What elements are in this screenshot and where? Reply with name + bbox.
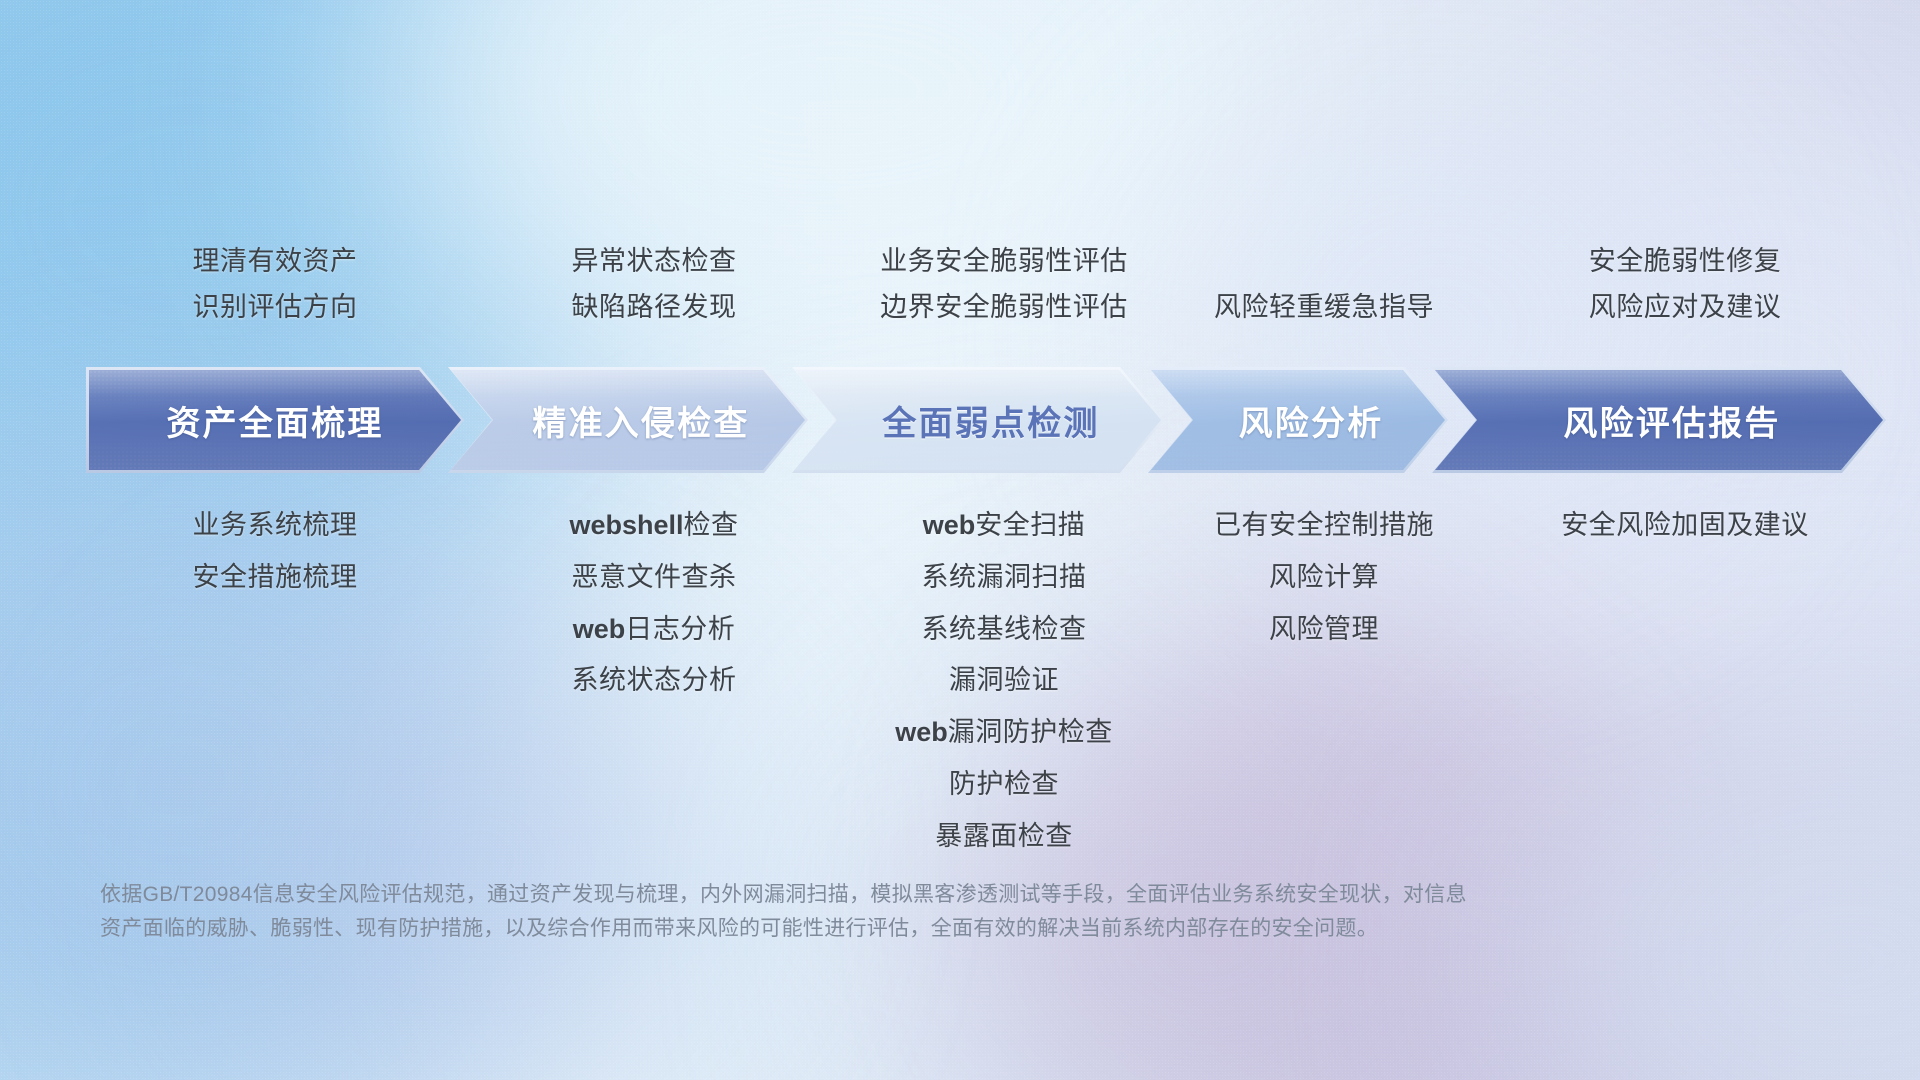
- process-step-title: 资产全面梳理: [166, 396, 383, 445]
- bottom-item-keyword: web: [923, 510, 976, 540]
- top-caption-item: 缺陷路径发现: [474, 284, 834, 330]
- bottom-item: 安全风险加固及建议: [1458, 500, 1912, 552]
- bottom-item: 风险计算: [1174, 552, 1474, 604]
- bottom-item: 暴露面检查: [818, 811, 1190, 863]
- top-caption-item: 理清有效资产: [86, 238, 464, 284]
- process-column-top-captions: 业务安全脆弱性评估边界安全脆弱性评估: [792, 238, 1190, 331]
- process-column-top-captions: 理清有效资产识别评估方向: [86, 238, 464, 331]
- bottom-item: web漏洞防护检查: [818, 707, 1190, 759]
- process-step-title: 风险分析: [1213, 396, 1384, 445]
- top-caption-item: 业务安全脆弱性评估: [818, 238, 1190, 284]
- process-step-risk-report[interactable]: 风险评估报告: [1432, 367, 1886, 473]
- process-step-intrusion-check[interactable]: 精准入侵检查: [448, 367, 808, 473]
- bottom-item-keyword: web: [895, 717, 948, 747]
- bottom-item: 安全措施梳理: [86, 552, 464, 604]
- process-column-bottom-items: webshell检查恶意文件查杀web日志分析系统状态分析: [448, 500, 834, 707]
- top-caption-item: 安全脆弱性修复: [1458, 238, 1912, 284]
- process-column-top-captions: 异常状态检查缺陷路径发现: [448, 238, 834, 331]
- bottom-item: 系统基线检查: [818, 604, 1190, 656]
- process-column-bottom-items: 业务系统梳理安全措施梳理: [86, 500, 464, 604]
- top-caption-item: 风险轻重缓急指导: [1174, 284, 1474, 330]
- bottom-item-keyword: webshell: [569, 510, 683, 540]
- process-column-bottom-items: web安全扫描系统漏洞扫描系统基线检查漏洞验证web漏洞防护检查防护检查暴露面检…: [792, 500, 1190, 863]
- process-step-weakness-detection[interactable]: 全面弱点检测: [792, 367, 1164, 473]
- process-step-title: 精准入侵检查: [506, 396, 749, 445]
- process-column-top-captions: 安全脆弱性修复风险应对及建议: [1432, 238, 1912, 331]
- process-step-title: 风险评估报告: [1537, 396, 1780, 445]
- bottom-item: 已有安全控制措施: [1174, 500, 1474, 552]
- top-caption-item: 识别评估方向: [86, 284, 464, 330]
- bottom-item: 系统漏洞扫描: [818, 552, 1190, 604]
- bottom-item: 恶意文件查杀: [474, 552, 834, 604]
- process-column-bottom-items: 已有安全控制措施风险计算风险管理: [1148, 500, 1474, 655]
- bottom-item: web日志分析: [474, 604, 834, 656]
- footer-line-1: 依据GB/T20984信息安全风险评估规范，通过资产发现与梳理，内外网漏洞扫描，…: [100, 878, 1660, 912]
- process-step-band: 资产全面梳理精准入侵检查全面弱点检测风险分析风险评估报告: [86, 367, 1886, 473]
- bottom-item-text: 安全扫描: [975, 510, 1085, 540]
- top-caption-item: 异常状态检查: [474, 238, 834, 284]
- bottom-item: web安全扫描: [818, 500, 1190, 552]
- bottom-item: 系统状态分析: [474, 655, 834, 707]
- bottom-item-text: 漏洞防护检查: [948, 717, 1113, 747]
- process-step-asset-inventory[interactable]: 资产全面梳理: [86, 367, 464, 473]
- top-caption-item: 风险应对及建议: [1458, 284, 1912, 330]
- footer-line-2: 资产面临的威胁、脆弱性、现有防护措施，以及综合作用而带来风险的可能性进行评估，全…: [100, 912, 1660, 946]
- process-step-title: 全面弱点检测: [856, 396, 1099, 445]
- process-diagram: 理清有效资产识别评估方向业务系统梳理安全措施梳理异常状态检查缺陷路径发现webs…: [0, 0, 1920, 1080]
- bottom-item: 业务系统梳理: [86, 500, 464, 552]
- bottom-item: 风险管理: [1174, 604, 1474, 656]
- bottom-item-text: 日志分析: [625, 614, 735, 644]
- process-step-risk-analysis[interactable]: 风险分析: [1148, 367, 1448, 473]
- bottom-item: 防护检查: [818, 759, 1190, 811]
- process-column-bottom-items: 安全风险加固及建议: [1432, 500, 1912, 552]
- process-column-top-captions: 风险轻重缓急指导: [1148, 284, 1474, 330]
- bottom-item: 漏洞验证: [818, 655, 1190, 707]
- bottom-item-text: 检查: [684, 510, 739, 540]
- bottom-item: webshell检查: [474, 500, 834, 552]
- footer-description: 依据GB/T20984信息安全风险评估规范，通过资产发现与梳理，内外网漏洞扫描，…: [100, 878, 1660, 946]
- bottom-item-keyword: web: [573, 614, 626, 644]
- top-caption-item: 边界安全脆弱性评估: [818, 284, 1190, 330]
